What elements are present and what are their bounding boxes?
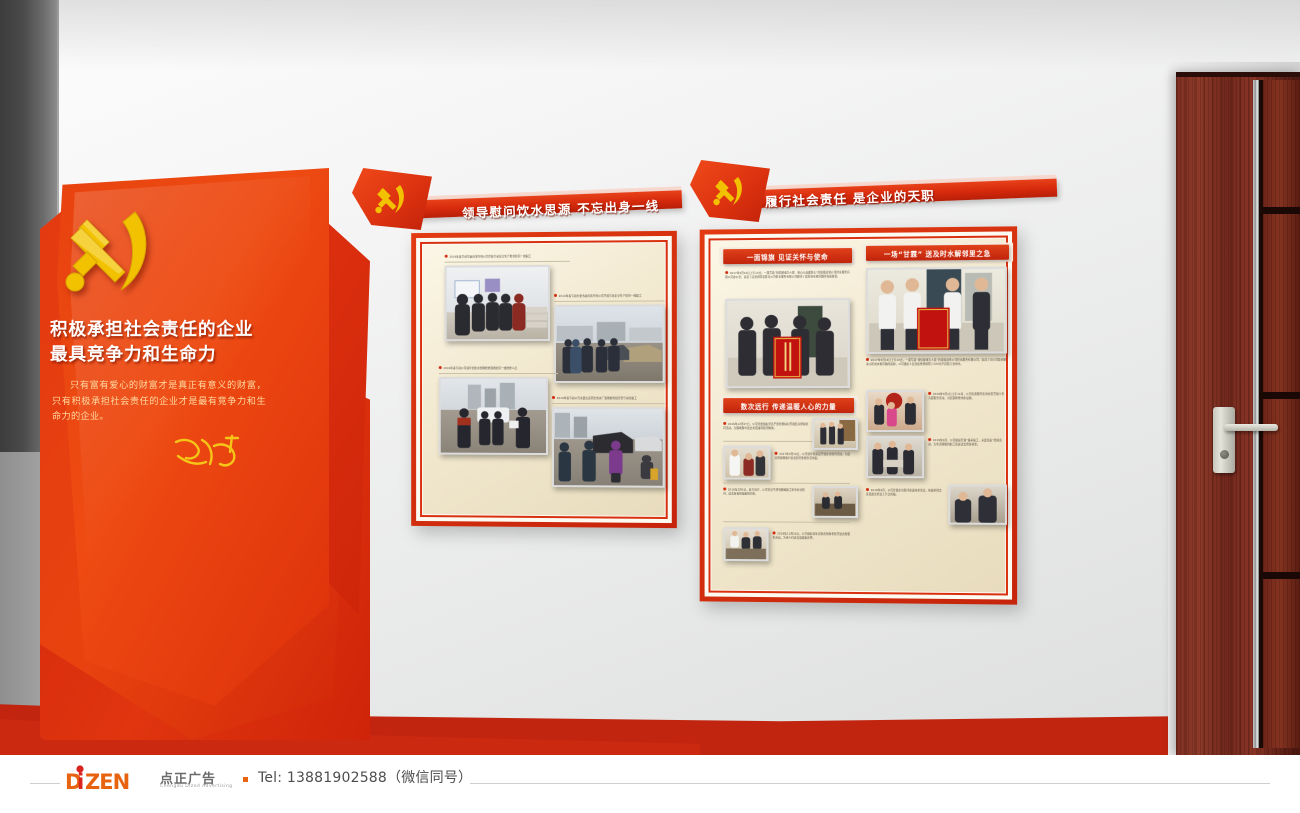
brand-logo-icon: D i ZEN bbox=[63, 764, 153, 794]
photo-s3-2-content bbox=[725, 448, 768, 478]
caption-bullet-icon bbox=[552, 396, 555, 399]
photo-left-4 bbox=[552, 407, 665, 488]
poster-title: 积极承担社会责任的企业 最具竞争力和生命力 bbox=[50, 318, 300, 368]
section-3-item-2: 2017年9月19日，公司领导到荣县开展走访慰问活动，为结对帮扶困难户送去慰问金… bbox=[775, 452, 852, 466]
caption-bullet-icon bbox=[554, 294, 557, 297]
caption-rule-2 bbox=[554, 300, 665, 302]
photo-s3-1-content bbox=[814, 420, 856, 448]
signature-mark bbox=[168, 432, 248, 476]
party-emblem-small-icon-right bbox=[710, 172, 746, 212]
photo-figures bbox=[727, 300, 848, 386]
photo-s3-6-content bbox=[868, 438, 922, 476]
photo-left-1-content bbox=[447, 267, 548, 339]
footer-rule-left bbox=[30, 783, 60, 784]
photo-left-3 bbox=[439, 377, 548, 455]
section-3-item-7: 2018年9月，公司党委走访慰问离退休老党员，听取老同志意见建议并送上节日祝福。 bbox=[866, 488, 944, 506]
section-1-text: 2017年5月16日上午10点，一面写着“排忧解难为人民、热心公益暖民心”的锦旗… bbox=[725, 270, 850, 295]
photo-left-3-content bbox=[441, 379, 546, 453]
section-3-item-1: 2016年12月27日，公司党委组织党员干部到帮扶村开展结对帮扶慰问活动，为困难… bbox=[723, 422, 810, 439]
section-3-item-6: 2018年6月，公司组织开展“情系职工、关爱家庭”帮扶活动，为生活困难的职工家庭… bbox=[928, 438, 1007, 464]
door[interactable] bbox=[1168, 62, 1300, 755]
caption-bullet-icon bbox=[866, 488, 869, 491]
section-3-item-4: 2018年11月16日，公司组织青年志愿者到敬老院开展志愿服务活动，为老人们送去… bbox=[773, 531, 852, 550]
door-rail-2 bbox=[1263, 392, 1300, 399]
photo-s3-4 bbox=[723, 527, 768, 561]
caption-bullet-icon bbox=[439, 366, 442, 369]
caption-bullet-icon bbox=[928, 438, 931, 441]
caption-rule-4 bbox=[552, 403, 665, 404]
party-emblem-small-icon-left bbox=[372, 180, 408, 220]
photo-s3-7-content bbox=[950, 486, 1005, 523]
caption-left-1: 2019年春节前市政府领导到公司开展节前安全生产检查慰问一线职工 bbox=[445, 254, 570, 261]
caption-bullet-icon bbox=[773, 531, 776, 534]
svg-text:i: i bbox=[77, 770, 83, 794]
photo-figures bbox=[814, 420, 856, 448]
photo-figures bbox=[556, 306, 663, 381]
board-left-panel: 2019年春节前市政府领导到公司开展节前安全生产检查慰问一线职工 bbox=[423, 243, 665, 516]
ceiling-shadow bbox=[57, 0, 1300, 70]
photo-figures bbox=[554, 409, 663, 486]
section-3-item-5: 2018年5月2日上午11时，公司志愿服务队到社区开展义务为民服务活动，为居民检… bbox=[928, 392, 1007, 414]
caption-bullet-icon bbox=[723, 422, 726, 425]
caption-left-4: 2019年春节前公司主要负责同志到水厂现场检查慰问坚守岗位职工 bbox=[552, 396, 665, 402]
photo-figures bbox=[868, 438, 922, 476]
exhibition-board-right: 一面锦旗 见证关怀与使命 2017年5月16日上午10点，一面写着“排忧解难为人… bbox=[700, 226, 1017, 604]
footer-separator-dot bbox=[243, 777, 248, 782]
photo-s3-2 bbox=[723, 446, 770, 480]
photo-s3-3 bbox=[812, 486, 858, 518]
photo-right-1-content bbox=[727, 300, 848, 386]
door-keyhole-icon bbox=[1220, 450, 1229, 459]
caption-bullet-icon bbox=[928, 392, 931, 395]
party-emblem-icon bbox=[57, 198, 157, 310]
photo-s3-3-content bbox=[814, 488, 856, 516]
caption-rule-1 bbox=[445, 261, 570, 263]
photo-figures bbox=[814, 488, 856, 516]
photo-figures bbox=[950, 486, 1005, 523]
photo-left-4-content bbox=[554, 409, 663, 486]
door-handle-lever-icon[interactable] bbox=[1224, 424, 1278, 431]
svg-text:ZEN: ZEN bbox=[85, 770, 129, 794]
photo-s3-4-content bbox=[725, 529, 766, 559]
caption-bullet-icon bbox=[445, 255, 448, 258]
caption-left-2: 2019年春节前市委市政府领导到公司开展节前安全生产慰问一线职工 bbox=[554, 293, 665, 300]
photo-left-2 bbox=[554, 304, 665, 383]
caption-bullet-icon bbox=[866, 358, 869, 361]
door-handle-plate[interactable] bbox=[1213, 407, 1235, 473]
photo-s3-6 bbox=[866, 436, 924, 478]
wall-design-rendering: 积极承担社会责任的企业 最具竞争力和生命力 只有富有爱心的财富才是真正有意义的财… bbox=[0, 0, 1300, 813]
contact-phone: Tel: 13881902588（微信同号） bbox=[258, 767, 472, 787]
photo-figures bbox=[447, 267, 548, 339]
photo-s3-5-content bbox=[868, 392, 922, 430]
photo-s3-7 bbox=[948, 484, 1007, 525]
photo-right-2-content bbox=[868, 269, 1005, 352]
caption-rule-3 bbox=[439, 373, 558, 374]
section-title-2: 一场“甘霖” 送及时水解邻里之急 bbox=[866, 245, 1009, 261]
door-top-edge bbox=[1176, 72, 1300, 77]
exhibition-board-left: 2019年春节前市政府领导到公司开展节前安全生产检查慰问一线职工 bbox=[411, 231, 677, 528]
board-right-panel: 一面锦旗 见证关怀与使命 2017年5月16日上午10点，一面写着“排忧解难为人… bbox=[711, 239, 1004, 593]
photo-right-banner-award bbox=[725, 298, 850, 388]
caption-bullet-icon bbox=[775, 452, 778, 455]
footer-rule-right bbox=[470, 783, 1270, 784]
section-3-item-3: 2018年2月5日，春节前夕，公司党员干部到困难职工家中走访慰问，送去新春祝福和… bbox=[723, 487, 808, 505]
s3-rule-2 bbox=[723, 482, 850, 483]
photo-s3-5 bbox=[866, 390, 924, 432]
door-rail-1 bbox=[1263, 207, 1300, 214]
brand-name-en: Chengdu Dized Advertising bbox=[160, 784, 232, 789]
door-inner-panel bbox=[1263, 80, 1300, 748]
photo-figures bbox=[725, 448, 768, 478]
poster-title-line2: 最具竞争力和生命力 bbox=[50, 343, 300, 368]
photo-figures bbox=[725, 529, 766, 559]
photo-left-2-content bbox=[556, 306, 663, 381]
photo-figures bbox=[868, 269, 1005, 352]
section-title-1: 一面锦旗 见证关怀与使命 bbox=[723, 248, 852, 264]
section-title-3: 数次远行 传递温暖人心的力量 bbox=[723, 398, 854, 413]
photo-figures bbox=[868, 392, 922, 430]
door-rail-3 bbox=[1263, 572, 1300, 579]
caption-bullet-icon bbox=[723, 487, 726, 490]
poster-title-line1: 积极承担社会责任的企业 bbox=[50, 318, 300, 343]
poster-body-text: 只有富有爱心的财富才是真正有意义的财富，只有积极承担社会责任的企业才是最有竞争力… bbox=[52, 378, 266, 425]
section-2-text: 2017年5月16日上午10点，一面写着“排忧解难为人民”的锦旗送到公司供水服务… bbox=[866, 358, 1007, 384]
photo-s3-1 bbox=[812, 418, 858, 450]
s3-rule-3 bbox=[723, 521, 850, 523]
photo-right-group bbox=[866, 267, 1007, 354]
caption-bullet-icon bbox=[725, 271, 728, 274]
caption-left-3: 2019年春节前公司领导到供水管网抢修现场慰问一线抢修人员 bbox=[439, 366, 558, 372]
photo-figures bbox=[441, 379, 546, 453]
photo-left-1 bbox=[445, 265, 550, 341]
